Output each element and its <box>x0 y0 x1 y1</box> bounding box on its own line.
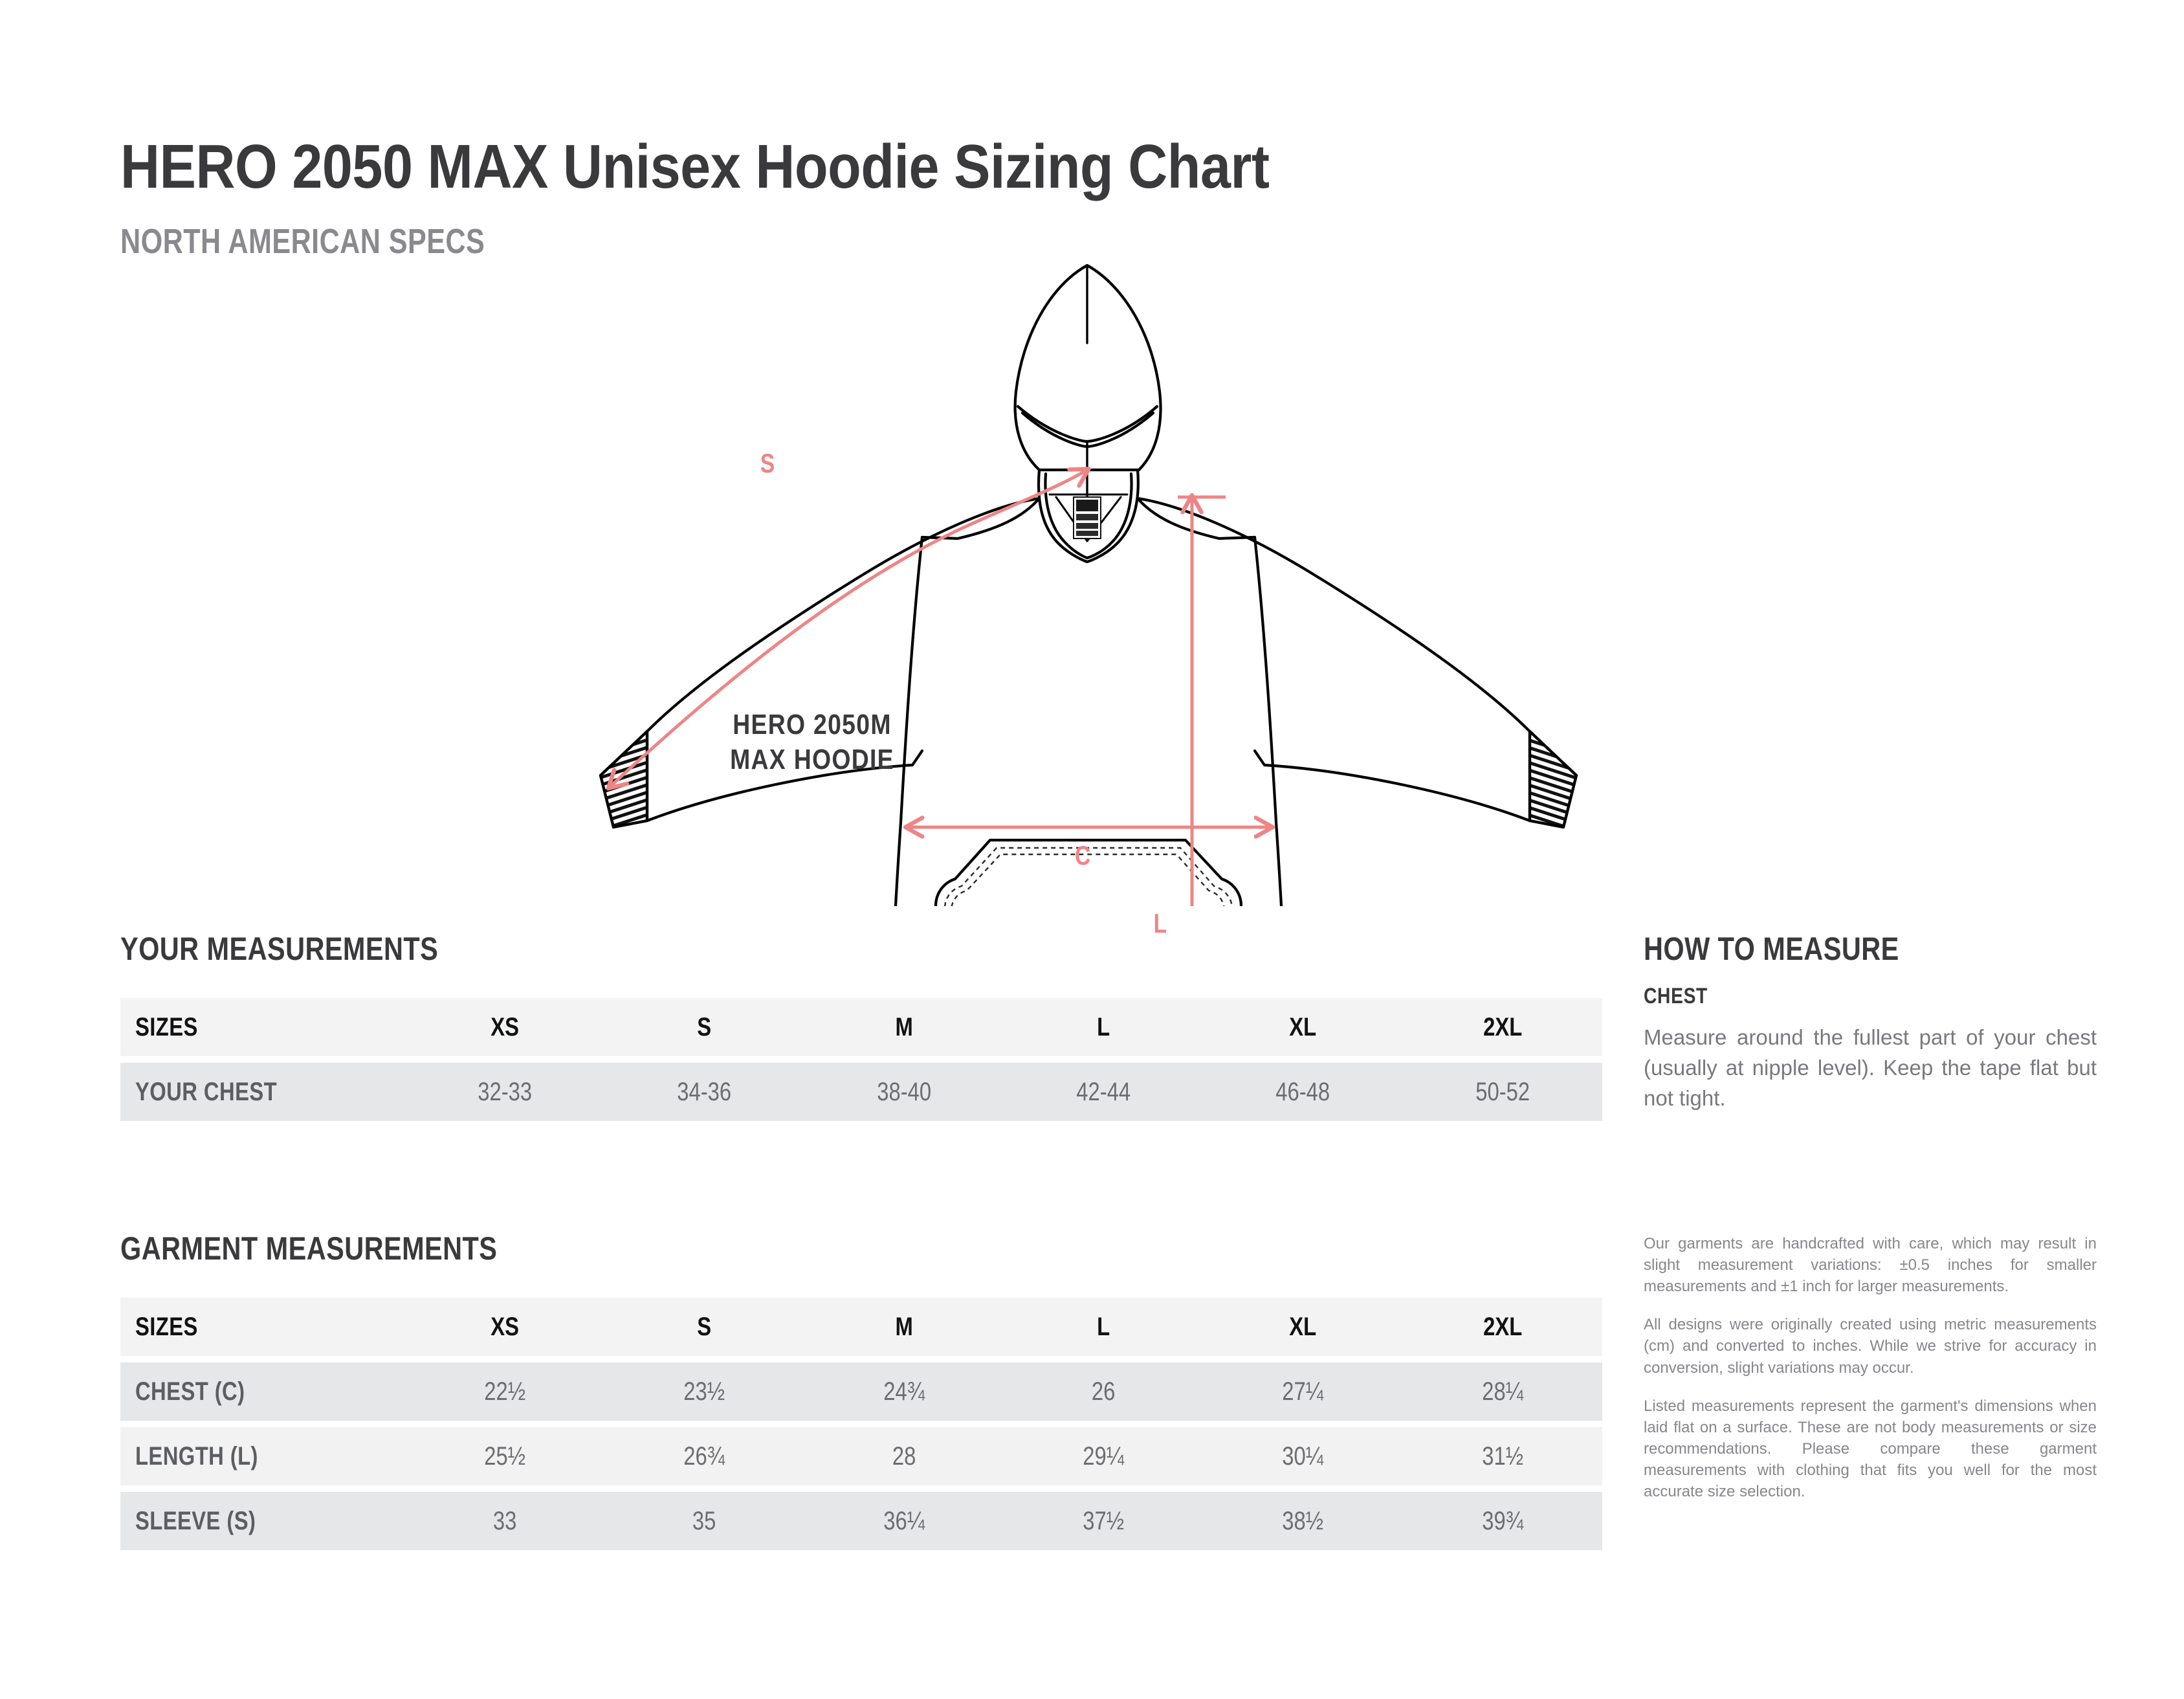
your-measurements-heading: YOUR MEASUREMENTS <box>120 930 438 968</box>
table-header-row: SIZES XS S M L XL 2XL <box>120 1298 1602 1356</box>
cell-sleeve-xs: 33 <box>423 1507 587 1536</box>
cell-your-chest-xs: 32-33 <box>423 1078 587 1107</box>
cell-length-xl: 30¼ <box>1221 1442 1385 1471</box>
garment-measurements-table: SIZES XS S M L XL 2XL CHEST (C) 22½ 23½ … <box>120 1298 1602 1557</box>
cell-length-2xl: 31½ <box>1420 1442 1584 1471</box>
cell-your-chest-s: 34-36 <box>623 1078 786 1107</box>
how-to-measure-heading: HOW TO MEASURE <box>1644 930 1899 968</box>
column-header-xs: XS <box>423 1013 587 1042</box>
cell-your-chest-xl: 46-48 <box>1221 1078 1385 1107</box>
right-cuff-ribbing <box>1530 731 1576 827</box>
row-label-your-chest: YOUR CHEST <box>120 1078 354 1107</box>
hoodie-technical-illustration: S C L <box>569 239 1618 906</box>
how-to-measure-subheading: CHEST <box>1644 984 1708 1009</box>
length-callout-label: L <box>1154 908 1167 939</box>
column-header-l: L <box>1022 1313 1186 1342</box>
column-header-s: S <box>623 1013 786 1042</box>
page-title: HERO 2050 MAX Unisex Hoodie Sizing Chart <box>120 136 1270 198</box>
cell-chest-2xl: 28¼ <box>1420 1377 1584 1406</box>
left-cuff-ribbing <box>601 731 647 827</box>
garment-measurements-heading: GARMENT MEASUREMENTS <box>120 1230 497 1267</box>
cell-length-xs: 25½ <box>423 1442 587 1471</box>
model-name-line-2: MAX HOODIE <box>705 742 920 777</box>
cell-sleeve-xl: 38½ <box>1221 1507 1385 1536</box>
fineprint-paragraph-2: All designs were originally created usin… <box>1644 1314 2097 1378</box>
cell-length-m: 28 <box>822 1442 986 1471</box>
cell-your-chest-l: 42-44 <box>1022 1078 1186 1107</box>
cell-sleeve-m: 36¼ <box>822 1507 986 1536</box>
table-row: LENGTH (L) 25½ 26¾ 28 29¼ 30¼ 31½ <box>120 1427 1602 1485</box>
model-name-label: HERO 2050M MAX HOODIE <box>705 707 920 777</box>
cell-chest-s: 23½ <box>623 1377 786 1406</box>
table-row: YOUR CHEST 32-33 34-36 38-40 42-44 46-48… <box>120 1063 1602 1121</box>
table-row: CHEST (C) 22½ 23½ 24¾ 26 27¼ 28¼ <box>120 1362 1602 1421</box>
cell-chest-xs: 22½ <box>423 1377 587 1406</box>
your-measurements-table: SIZES XS S M L XL 2XL YOUR CHEST 32-33 3… <box>120 998 1602 1127</box>
column-header-2xl: 2XL <box>1420 1013 1584 1042</box>
row-label-length: LENGTH (L) <box>120 1442 354 1471</box>
cell-length-s: 26¾ <box>623 1442 786 1471</box>
column-header-xs: XS <box>423 1313 587 1342</box>
cell-chest-m: 24¾ <box>822 1377 986 1406</box>
fineprint-paragraph-1: Our garments are handcrafted with care, … <box>1644 1233 2097 1297</box>
column-header-2xl: 2XL <box>1420 1313 1584 1342</box>
column-header-sizes: SIZES <box>120 1013 354 1042</box>
table-header-row: SIZES XS S M L XL 2XL <box>120 998 1602 1056</box>
cell-sleeve-2xl: 39¾ <box>1420 1507 1584 1536</box>
column-header-m: M <box>822 1313 986 1342</box>
cell-chest-xl: 27¼ <box>1221 1377 1385 1406</box>
column-header-sizes: SIZES <box>120 1313 354 1342</box>
column-header-xl: XL <box>1221 1313 1385 1342</box>
table-row: SLEEVE (S) 33 35 36¼ 37½ 38½ 39¾ <box>120 1492 1602 1550</box>
sizing-chart-page: HERO 2050 MAX Unisex Hoodie Sizing Chart… <box>0 0 2184 1699</box>
fineprint-notes: Our garments are handcrafted with care, … <box>1644 1233 2097 1502</box>
column-header-xl: XL <box>1221 1013 1385 1042</box>
row-label-sleeve: SLEEVE (S) <box>120 1507 354 1536</box>
cell-your-chest-m: 38-40 <box>822 1078 986 1107</box>
column-header-l: L <box>1022 1013 1186 1042</box>
fineprint-paragraph-3: Listed measurements represent the garmen… <box>1644 1395 2097 1503</box>
cell-sleeve-l: 37½ <box>1022 1507 1186 1536</box>
sleeve-callout-label: S <box>760 448 775 479</box>
cell-chest-l: 26 <box>1022 1377 1186 1406</box>
cell-length-l: 29¼ <box>1022 1442 1186 1471</box>
how-to-measure-body: Measure around the fullest part of your … <box>1644 1023 2097 1114</box>
row-label-chest: CHEST (C) <box>120 1377 354 1406</box>
chest-callout-label: C <box>1075 840 1090 871</box>
cell-your-chest-2xl: 50-52 <box>1420 1078 1584 1107</box>
brand-label-icon <box>1074 497 1101 539</box>
length-measure-arrow <box>1178 497 1226 906</box>
column-header-m: M <box>822 1013 986 1042</box>
column-header-s: S <box>623 1313 786 1342</box>
model-name-line-1: HERO 2050M <box>705 707 920 742</box>
cell-sleeve-s: 35 <box>623 1507 786 1536</box>
